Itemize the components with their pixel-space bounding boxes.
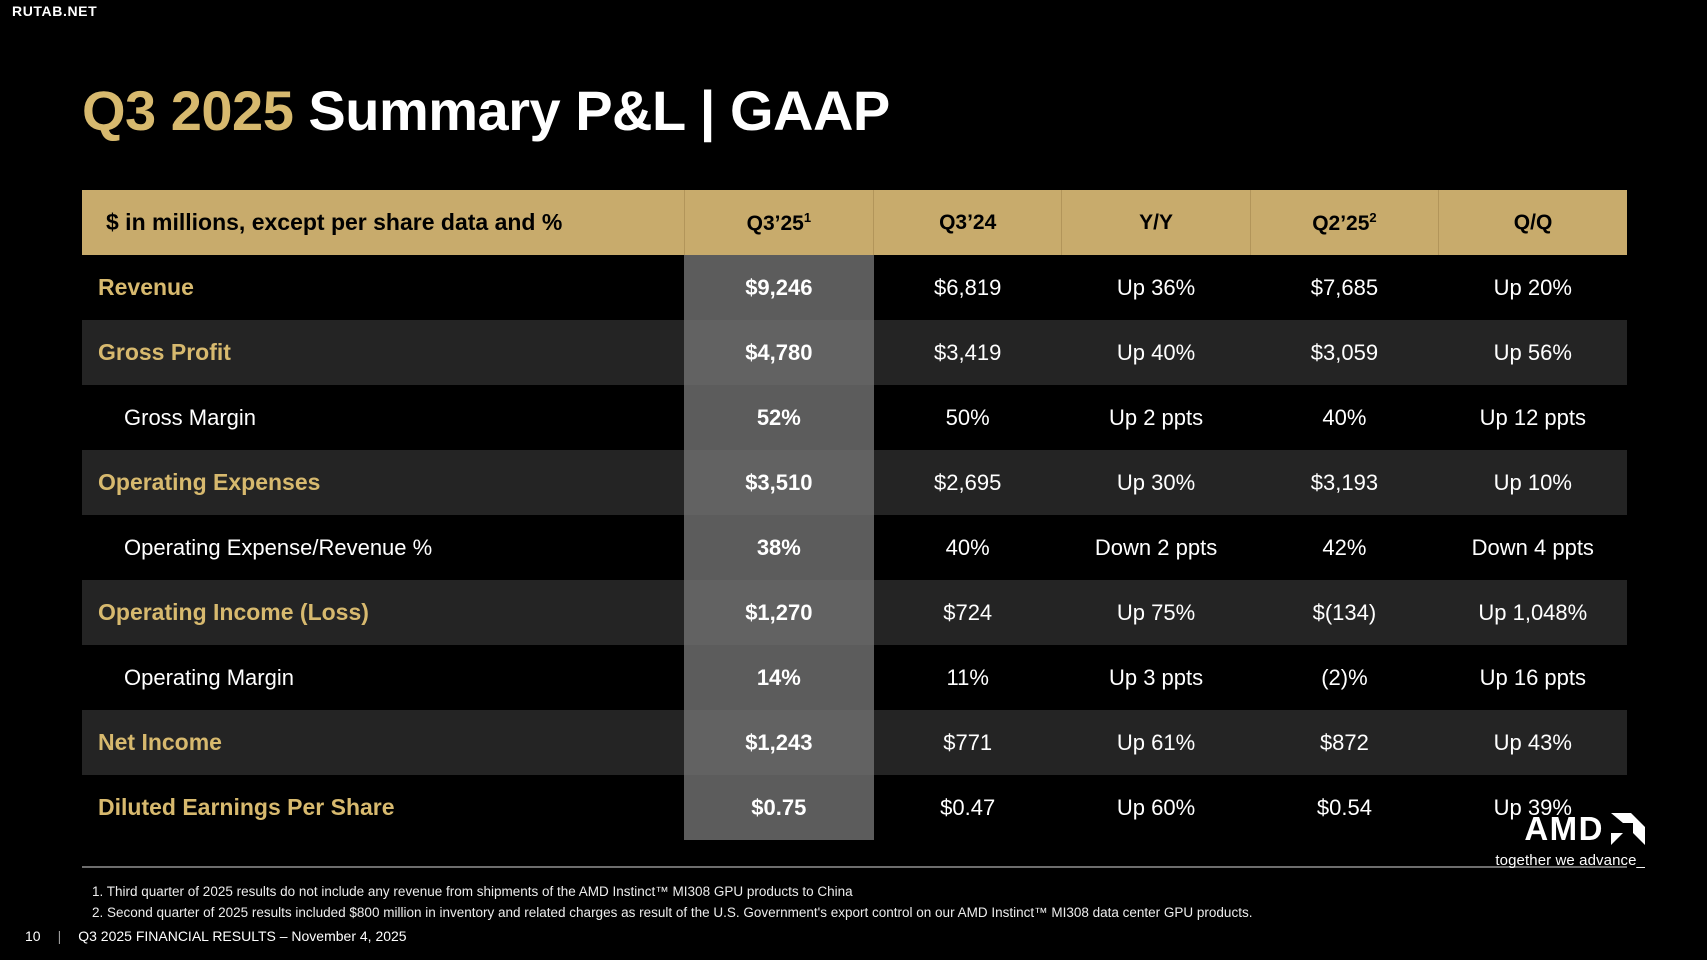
amd-arrow-icon: [1611, 813, 1645, 845]
table-cell: 11%: [874, 645, 1062, 710]
table-cell: 42%: [1250, 515, 1438, 580]
table-cell: Up 40%: [1062, 320, 1250, 385]
page-footer-text: Q3 2025 FINANCIAL RESULTS – November 4, …: [78, 928, 406, 944]
column-header-yy: Y/Y: [1062, 190, 1250, 255]
table-cell: 40%: [874, 515, 1062, 580]
table-cell: Up 61%: [1062, 710, 1250, 775]
table-body: Revenue$9,246$6,819Up 36%$7,685Up 20%Gro…: [82, 255, 1627, 840]
table-cell: Up 16 ppts: [1439, 645, 1627, 710]
row-label: Operating Margin: [82, 645, 684, 710]
table-cell: 40%: [1250, 385, 1438, 450]
table-row: Operating Margin14%11%Up 3 ppts(2)%Up 16…: [82, 645, 1627, 710]
table-cell: $(134): [1250, 580, 1438, 645]
footnote-2: 2. Second quarter of 2025 results includ…: [92, 903, 1392, 924]
table-cell: Up 2 ppts: [1062, 385, 1250, 450]
table-cell: $1,243: [684, 710, 873, 775]
amd-tagline: together we advance_: [1495, 852, 1645, 869]
table-cell: Up 20%: [1439, 255, 1627, 320]
table-cell: Up 43%: [1439, 710, 1627, 775]
table-cell: $724: [874, 580, 1062, 645]
table-cell: $0.75: [684, 775, 873, 840]
column-header-label: $ in millions, except per share data and…: [82, 190, 684, 255]
title-accent: Q3 2025: [82, 79, 293, 142]
table-cell: 14%: [684, 645, 873, 710]
column-header-q2-25: Q2’252: [1250, 190, 1438, 255]
page-title: Q3 2025 Summary P&L | GAAP: [82, 78, 890, 143]
column-header-q3-25: Q3’251: [684, 190, 873, 255]
row-label: Operating Expense/Revenue %: [82, 515, 684, 580]
row-label: Gross Margin: [82, 385, 684, 450]
amd-logo-mark: AMD: [1495, 812, 1645, 845]
table-row: Gross Profit$4,780$3,419Up 40%$3,059Up 5…: [82, 320, 1627, 385]
row-label: Operating Income (Loss): [82, 580, 684, 645]
table-row: Operating Income (Loss)$1,270$724Up 75%$…: [82, 580, 1627, 645]
table-cell: $7,685: [1250, 255, 1438, 320]
table-cell: $771: [874, 710, 1062, 775]
row-label: Revenue: [82, 255, 684, 320]
page-number: 10: [25, 928, 41, 944]
table-cell: 52%: [684, 385, 873, 450]
summary-pl-table: $ in millions, except per share data and…: [82, 190, 1627, 840]
footnotes: 1. Third quarter of 2025 results do not …: [92, 882, 1392, 924]
table-cell: $3,193: [1250, 450, 1438, 515]
table-cell: Down 2 ppts: [1062, 515, 1250, 580]
table-header: $ in millions, except per share data and…: [82, 190, 1627, 255]
table-cell: Up 1,048%: [1439, 580, 1627, 645]
table-cell: $3,510: [684, 450, 873, 515]
title-plain: Summary P&L | GAAP: [308, 79, 889, 142]
page-footer-separator: |: [58, 928, 62, 944]
footer-divider: [82, 866, 1627, 868]
table-cell: Up 56%: [1439, 320, 1627, 385]
amd-wordmark: AMD: [1524, 812, 1604, 845]
table-cell: $872: [1250, 710, 1438, 775]
table-row: Operating Expense/Revenue %38%40%Down 2 …: [82, 515, 1627, 580]
table-cell: Up 75%: [1062, 580, 1250, 645]
table-cell: Up 60%: [1062, 775, 1250, 840]
watermark: RUTAB.NET: [12, 3, 97, 19]
table-cell: $3,059: [1250, 320, 1438, 385]
table-row: Gross Margin52%50%Up 2 ppts40%Up 12 ppts: [82, 385, 1627, 450]
slide: RUTAB.NET Q3 2025 Summary P&L | GAAP $ i…: [0, 0, 1707, 960]
table-cell: Up 30%: [1062, 450, 1250, 515]
table-header-row: $ in millions, except per share data and…: [82, 190, 1627, 255]
table-cell: (2)%: [1250, 645, 1438, 710]
page-footer: 10 | Q3 2025 FINANCIAL RESULTS – Novembe…: [25, 928, 407, 944]
table-cell: $1,270: [684, 580, 873, 645]
table-cell: $2,695: [874, 450, 1062, 515]
row-label: Diluted Earnings Per Share: [82, 775, 684, 840]
table-row: Operating Expenses$3,510$2,695Up 30%$3,1…: [82, 450, 1627, 515]
table-row: Revenue$9,246$6,819Up 36%$7,685Up 20%: [82, 255, 1627, 320]
table-row: Net Income$1,243$771Up 61%$872Up 43%: [82, 710, 1627, 775]
footnote-1: 1. Third quarter of 2025 results do not …: [92, 882, 1392, 903]
table-cell: Up 12 ppts: [1439, 385, 1627, 450]
table-cell: 50%: [874, 385, 1062, 450]
table-row: Diluted Earnings Per Share$0.75$0.47Up 6…: [82, 775, 1627, 840]
amd-logo: AMD together we advance_: [1495, 812, 1645, 869]
table-cell: $0.54: [1250, 775, 1438, 840]
table-cell: $6,819: [874, 255, 1062, 320]
column-header-qq: Q/Q: [1439, 190, 1627, 255]
table-cell: $9,246: [684, 255, 873, 320]
table-cell: $4,780: [684, 320, 873, 385]
table-cell: Down 4 ppts: [1439, 515, 1627, 580]
table-cell: Up 10%: [1439, 450, 1627, 515]
table-cell: Up 3 ppts: [1062, 645, 1250, 710]
row-label: Net Income: [82, 710, 684, 775]
row-label: Operating Expenses: [82, 450, 684, 515]
column-header-q3-24: Q3’24: [874, 190, 1062, 255]
table-cell: $0.47: [874, 775, 1062, 840]
table-cell: Up 36%: [1062, 255, 1250, 320]
row-label: Gross Profit: [82, 320, 684, 385]
table-cell: 38%: [684, 515, 873, 580]
table-cell: $3,419: [874, 320, 1062, 385]
